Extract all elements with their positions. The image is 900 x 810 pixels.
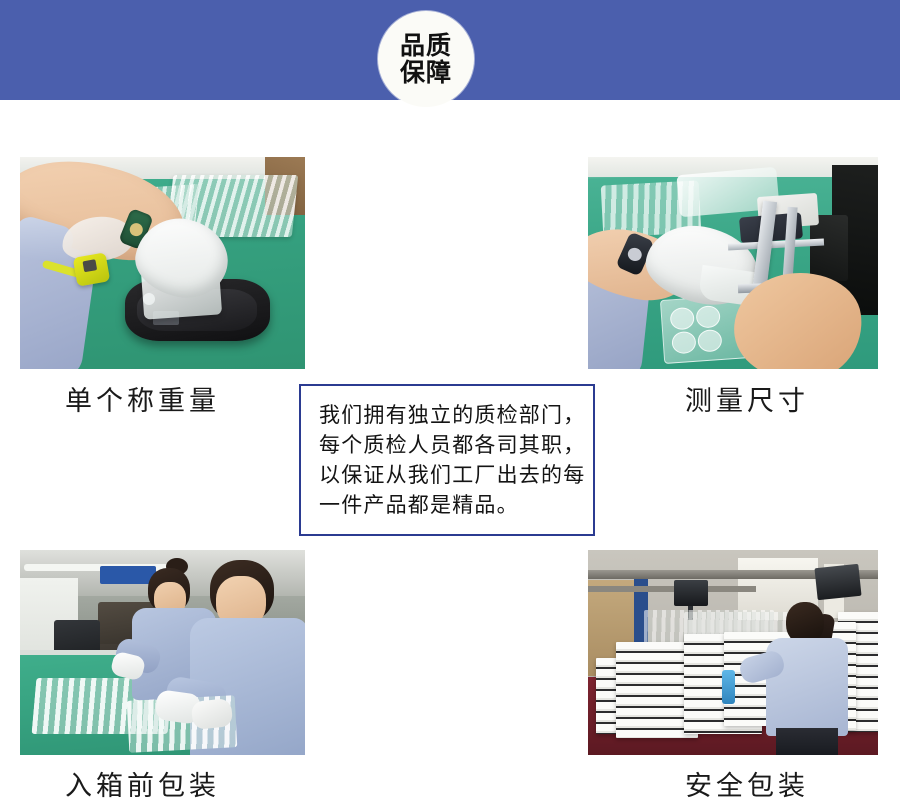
photo-safe-packing [588,550,878,755]
caption-measuring: 测量尺寸 [685,379,809,418]
photo-pre-box-packing-scene [20,550,305,755]
photo-pre-box-packing [20,550,305,755]
photo-measuring-scene [588,157,878,369]
photo-weighing-scene [20,157,305,369]
caption-safe-packing: 安全包装 [685,764,809,803]
photo-measuring [588,157,878,369]
seal-text-line-2: 保障 [400,60,452,86]
photo-safe-packing-scene [588,550,878,755]
quality-statement-box: 我们拥有独立的质检部门， 每个质检人员都各司其职， 以保证从我们工厂出去的每 一… [299,384,595,536]
statement-line-2: 每个质检人员都各司其职， [319,430,577,460]
caption-pre-box-packing: 入箱前包装 [65,764,220,803]
quality-seal-badge: 品质 保障 [378,11,474,107]
statement-line-1: 我们拥有独立的质检部门， [319,400,577,430]
photo-weighing [20,157,305,369]
quality-assurance-page: 品质 保障 [0,0,900,810]
statement-line-3: 以保证从我们工厂出去的每 [319,460,577,490]
header-banner: 品质 保障 [0,0,900,100]
caption-weighing: 单个称重量 [65,379,220,418]
statement-line-4: 一件产品都是精品。 [319,490,577,520]
seal-text-line-1: 品质 [400,33,452,59]
